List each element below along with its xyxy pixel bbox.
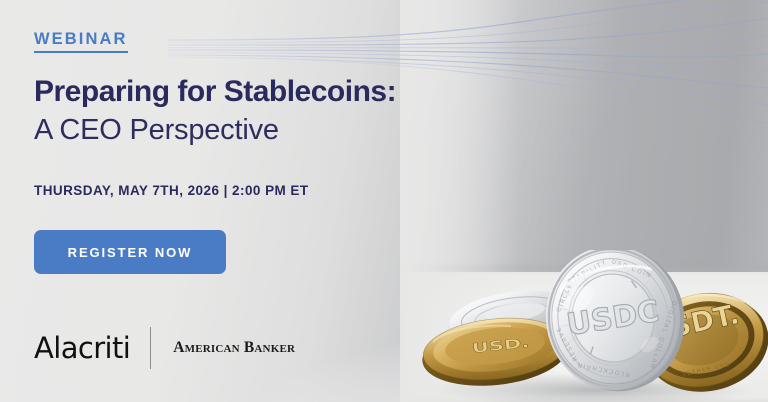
register-now-button[interactable]: REGISTER NOW bbox=[34, 230, 226, 274]
webinar-promo-banner: SDT. TETHER USD USD. bbox=[0, 0, 768, 402]
banner-content: WEBINAR Preparing for Stablecoins: A CEO… bbox=[34, 0, 464, 402]
eyebrow-label: WEBINAR bbox=[34, 30, 128, 53]
eyebrow-row: WEBINAR bbox=[34, 30, 128, 53]
american-banker-logo: American Banker bbox=[173, 340, 295, 356]
stablecoin-coins-image: SDT. TETHER USD USD. bbox=[415, 250, 768, 402]
title-line-1: Preparing for Stablecoins: bbox=[34, 74, 454, 109]
alacriti-logo: Alacriti bbox=[34, 334, 130, 363]
event-datetime: THURSDAY, MAY 7TH, 2026 | 2:00 PM ET bbox=[34, 183, 309, 198]
title-line-2: A CEO Perspective bbox=[34, 113, 454, 148]
logo-lockup: Alacriti American Banker bbox=[34, 327, 295, 369]
logo-divider bbox=[150, 327, 151, 369]
page-title: Preparing for Stablecoins: A CEO Perspec… bbox=[34, 74, 454, 149]
